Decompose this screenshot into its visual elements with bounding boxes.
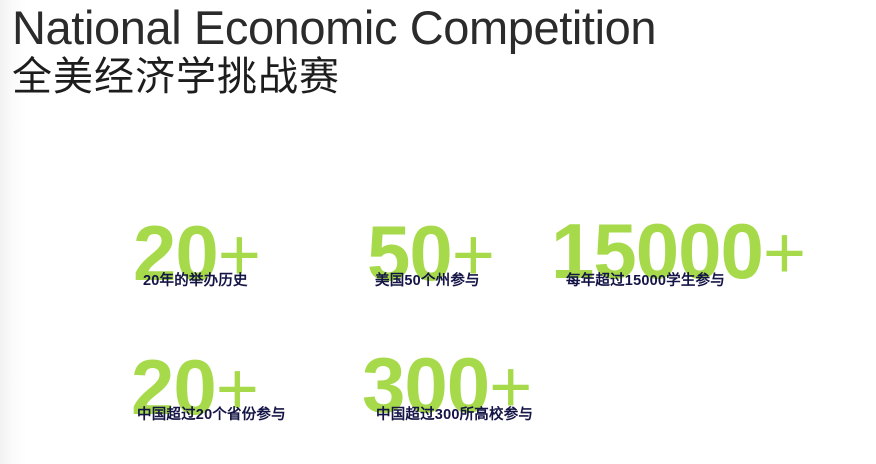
statistics-group: 20+ 20年的举办历史 50+ 美国50个州参与 15000+ 每年超过150… <box>0 196 876 456</box>
stat-label: 中国超过20个省份参与 <box>137 408 286 423</box>
stat-label: 每年超过15000学生参与 <box>566 274 725 289</box>
page-title-english: National Economic Competition <box>12 2 832 55</box>
stat-item-years: 20+ 20年的举办历史 <box>133 214 261 292</box>
stat-item-china-provinces: 20+ 中国超过20个省份参与 <box>131 348 259 426</box>
heading-block: National Economic Competition 全美经济学挑战赛 <box>12 2 832 101</box>
slide-canvas: National Economic Competition 全美经济学挑战赛 2… <box>0 0 876 464</box>
stat-label: 美国50个州参与 <box>375 274 480 289</box>
stat-label: 中国超过300所高校参与 <box>376 408 533 423</box>
stat-label: 20年的举办历史 <box>143 274 248 289</box>
stat-item-students: 15000+ 每年超过15000学生参与 <box>551 212 806 290</box>
page-title-chinese: 全美经济学挑战赛 <box>12 53 832 101</box>
stat-item-us-states: 50+ 美国50个州参与 <box>367 214 495 292</box>
stat-suffix: + <box>763 211 806 294</box>
stat-item-china-universities: 300+ 中国超过300所高校参与 <box>362 346 532 424</box>
